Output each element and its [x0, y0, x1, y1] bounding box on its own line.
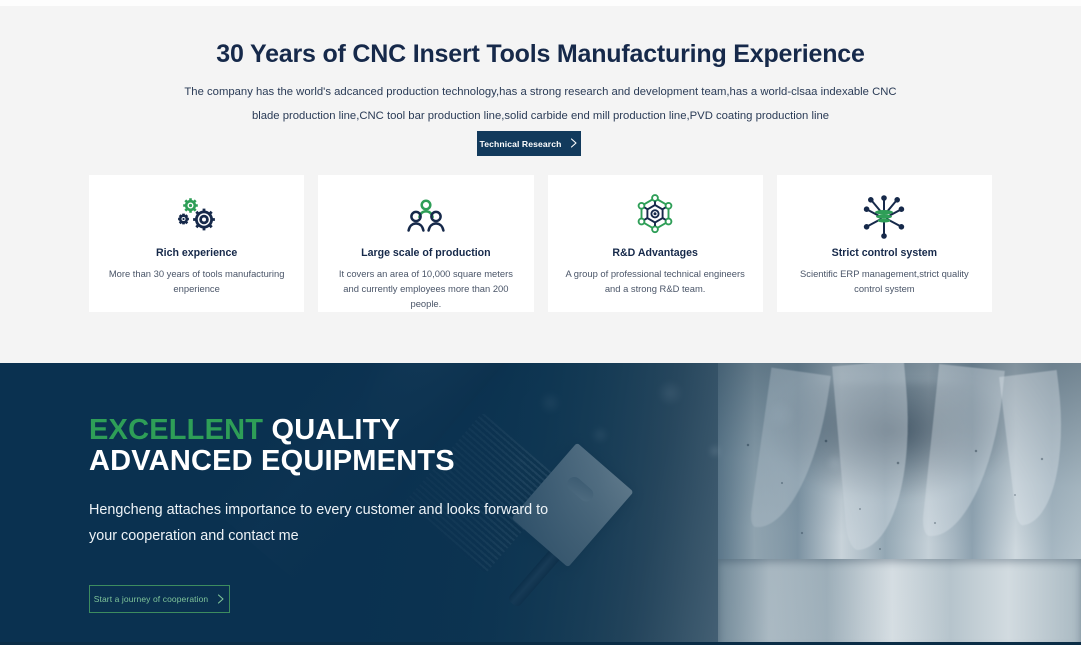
hero-heading: EXCELLENT QUALITY ADVANCED EQUIPMENTS [89, 415, 548, 477]
chevron-right-icon [570, 136, 578, 151]
hero-content: EXCELLENT QUALITY ADVANCED EQUIPMENTS He… [89, 415, 548, 613]
molecule-hexagon-icon [632, 193, 678, 241]
feature-card[interactable]: R&D Advantages A group of professional t… [548, 175, 763, 312]
feature-card[interactable]: Rich experience More than 30 years of to… [89, 175, 304, 312]
chevron-right-icon [217, 592, 225, 607]
technical-research-button[interactable]: Technical Research [477, 131, 581, 156]
page-title: 30 Years of CNC Insert Tools Manufacturi… [0, 40, 1081, 69]
feature-card-description: More than 30 years of tools manufacturin… [104, 266, 289, 296]
hero-subtext-line2: your cooperation and contact me [89, 528, 299, 544]
feature-card-title: Strict control system [832, 247, 937, 259]
hero-heading-line2: ADVANCED EQUIPMENTS [89, 445, 455, 477]
technical-research-label: Technical Research [480, 139, 562, 149]
section-description: The company has the world's adcanced pro… [171, 80, 911, 128]
people-group-icon [403, 193, 449, 241]
hero-subtext-line1: Hengcheng attaches importance to every c… [89, 502, 548, 518]
features-section: 30 Years of CNC Insert Tools Manufacturi… [0, 0, 1081, 363]
hero-section: EXCELLENT QUALITY ADVANCED EQUIPMENTS He… [0, 363, 1081, 645]
feature-card-description: It covers an area of 10,000 square meter… [333, 266, 518, 311]
feature-card-list: Rich experience More than 30 years of to… [89, 175, 992, 312]
feature-card[interactable]: Strict control system Scientific ERP man… [777, 175, 992, 312]
network-hub-icon [859, 193, 909, 241]
landing-page: 30 Years of CNC Insert Tools Manufacturi… [0, 0, 1081, 645]
hero-heading-rest: QUALITY [263, 414, 400, 446]
start-cooperation-label: Start a journey of cooperation [94, 594, 209, 604]
feature-card[interactable]: Large scale of production It covers an a… [318, 175, 533, 312]
gears-icon [174, 193, 220, 241]
feature-card-description: A group of professional technical engine… [563, 266, 748, 296]
top-divider-strip [0, 0, 1081, 6]
hero-heading-accent: EXCELLENT [89, 414, 263, 446]
feature-card-title: R&D Advantages [612, 247, 698, 259]
start-cooperation-button[interactable]: Start a journey of cooperation [89, 585, 230, 613]
feature-card-title: Rich experience [156, 247, 237, 259]
feature-card-title: Large scale of production [361, 247, 491, 259]
feature-card-description: Scientific ERP management,strict quality… [792, 266, 977, 296]
hero-subtext: Hengcheng attaches importance to every c… [89, 497, 548, 549]
